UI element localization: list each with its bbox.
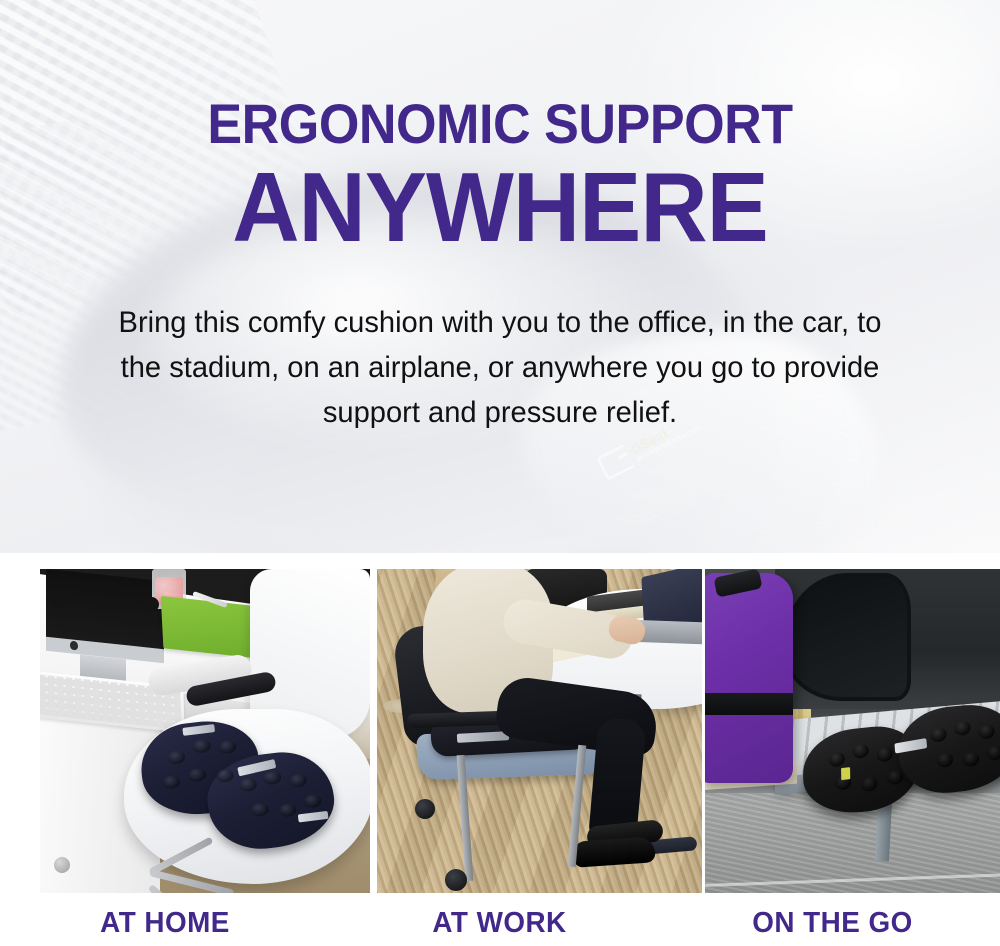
- gallery-photo-at-home: [40, 569, 370, 909]
- gel-seat-cushion: [136, 705, 350, 868]
- gallery-photo-at-work: [377, 569, 702, 909]
- cabinet-knob-icon: [54, 857, 70, 873]
- headline-line-2: ANYWHERE: [25, 158, 975, 256]
- headline-line-1: ERGONOMIC SUPPORT: [35, 96, 965, 152]
- chair-caster: [52, 591, 69, 608]
- hero-description: Bring this comfy cushion with you to the…: [112, 300, 888, 435]
- cushion-logo-badge: [841, 767, 850, 780]
- caption-at-home: AT HOME: [7, 907, 324, 940]
- caption-on-the-go: ON THE GO: [672, 907, 994, 940]
- gallery-captions: AT HOME AT WORK ON THE GO: [0, 893, 1000, 946]
- vehicle-window: [783, 573, 911, 701]
- cushion-brand-tag: [457, 731, 509, 743]
- cushion-dimple: [987, 745, 1000, 761]
- bag-strap: [705, 693, 793, 715]
- purple-duffel-bag: [705, 573, 793, 783]
- hero-banner: GSeat gelcoproducts.com ERGONOMIC SUPPOR…: [0, 0, 1000, 553]
- chair-caster: [415, 799, 435, 819]
- green-notebook: [161, 596, 256, 658]
- apple-logo-icon: [70, 641, 78, 651]
- usage-gallery: [0, 553, 1000, 893]
- chair-caster: [144, 597, 159, 612]
- chair-caster: [445, 869, 467, 891]
- caption-at-work: AT WORK: [344, 907, 656, 940]
- gallery-photo-on-the-go: [705, 569, 1000, 909]
